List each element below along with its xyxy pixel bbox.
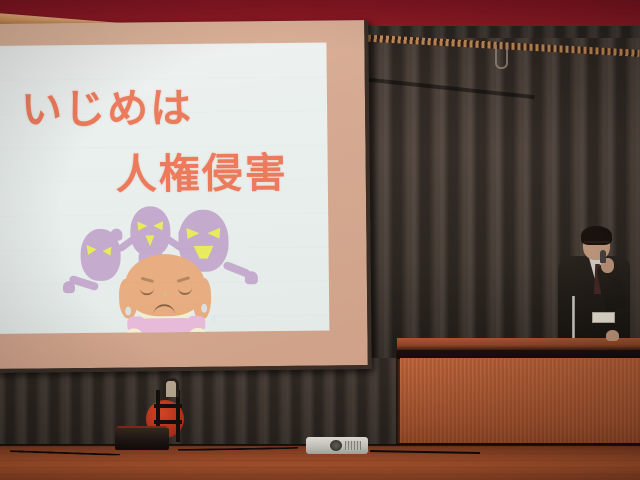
microphone-icon: [600, 250, 606, 263]
glasses-icon: [584, 241, 609, 249]
slide-illustration: [76, 193, 268, 334]
slide-headline-line1: いじめは: [21, 74, 194, 136]
cable-reel-handle: [163, 378, 179, 397]
girl-shirt: [139, 318, 193, 334]
girl-nose: [163, 292, 167, 296]
name-badge: [592, 312, 615, 323]
podium-front-panel: [400, 358, 640, 446]
projection-screen-frame: いじめは 人権侵害: [0, 20, 372, 373]
mic-stand-pole: [572, 296, 575, 340]
cable-reel-crossbar-bottom: [154, 420, 182, 424]
cable-reel-frame-right: [176, 390, 180, 442]
girl-tear-right: [201, 304, 207, 313]
girl-tear-right2: [211, 316, 216, 324]
bully-left-hand: [63, 281, 75, 293]
cable-reel-crossbar-top: [154, 404, 182, 408]
bully-center-hand-left: [110, 229, 122, 241]
projector-lens-icon: [330, 440, 342, 451]
curtain-hook-icon: [495, 45, 508, 69]
slide-headline-line2: 人権侵害: [115, 139, 288, 201]
auditorium-photo: いじめは 人権侵害: [0, 0, 640, 480]
power-box: [115, 428, 169, 450]
girl-tear-left: [125, 307, 131, 316]
speaker-resting-hand: [606, 330, 619, 341]
projection-screen: いじめは 人権侵害: [0, 42, 329, 333]
bully-right-hand: [245, 271, 258, 284]
projector-vent: [345, 441, 361, 450]
